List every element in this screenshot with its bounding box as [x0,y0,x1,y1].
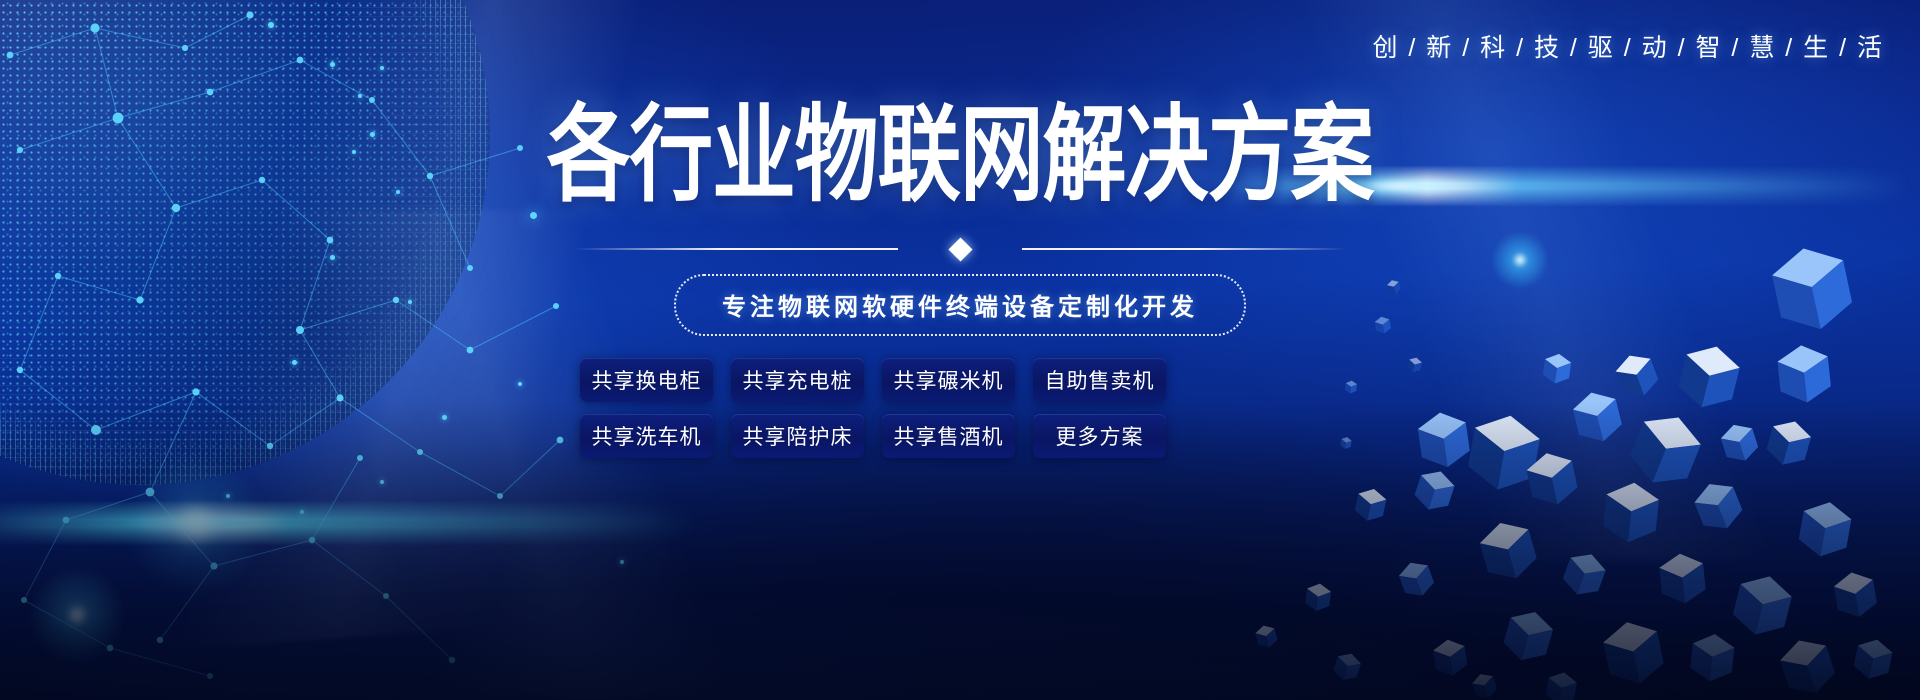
tag-row-1: 共享换电柜 共享充电桩 共享碾米机 自助售卖机 [580,358,1340,402]
subtitle-pill: 专注物联网软硬件终端设备定制化开发 [674,274,1246,336]
tag-button[interactable]: 共享洗车机 [580,414,713,458]
tag-button[interactable]: 共享碾米机 [882,358,1015,402]
page-title: 各行业物联网解决方案 [0,104,1920,209]
iot-solutions-banner: 创 / 新 / 科 / 技 / 驱 / 动 / 智 / 慧 / 生 / 活 各行… [0,0,1920,700]
divider-rule-left [574,248,898,250]
divider-rule-right [1022,248,1346,250]
tag-button[interactable]: 共享售酒机 [882,414,1015,458]
banner-content: 创 / 新 / 科 / 技 / 驱 / 动 / 智 / 慧 / 生 / 活 各行… [0,0,1920,700]
tag-button[interactable]: 更多方案 [1033,414,1166,458]
diamond-icon [948,237,972,261]
tag-button[interactable]: 自助售卖机 [1033,358,1166,402]
tag-row-2: 共享洗车机 共享陪护床 共享售酒机 更多方案 [580,414,1340,458]
tag-button[interactable]: 共享充电桩 [731,358,864,402]
tagline: 创 / 新 / 科 / 技 / 驱 / 动 / 智 / 慧 / 生 / 活 [1372,28,1884,64]
solution-tag-list: 共享换电柜 共享充电桩 共享碾米机 自助售卖机 共享洗车机 共享陪护床 共享售酒… [580,358,1340,470]
diamond-divider [574,238,1346,260]
tag-button[interactable]: 共享陪护床 [731,414,864,458]
tag-button[interactable]: 共享换电柜 [580,358,713,402]
